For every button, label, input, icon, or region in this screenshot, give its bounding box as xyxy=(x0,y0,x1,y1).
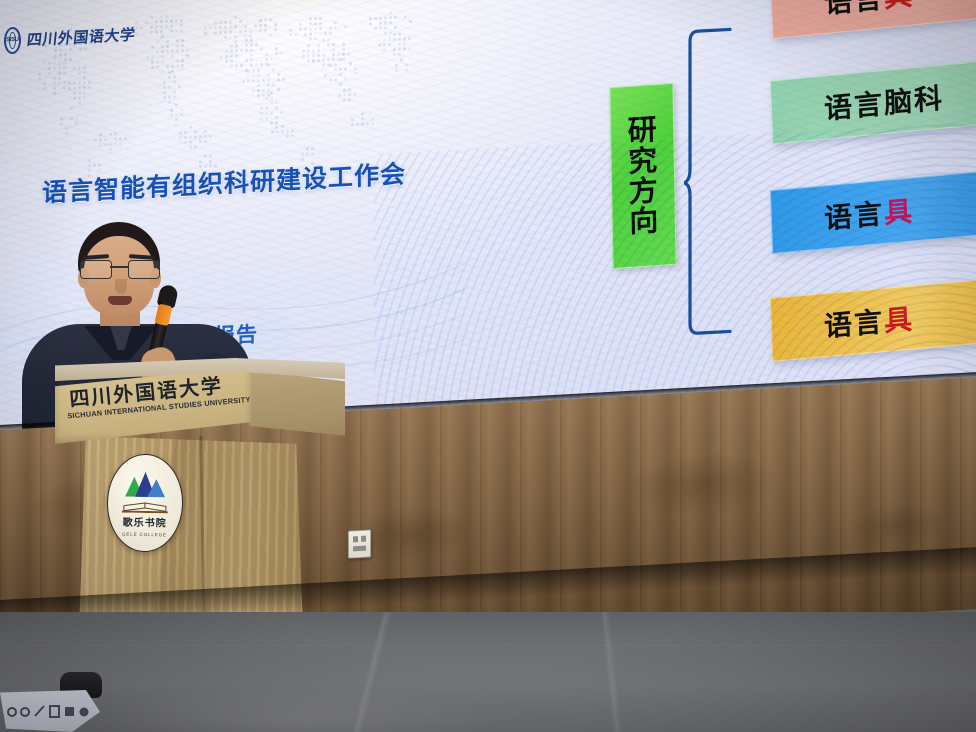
open-book-icon xyxy=(122,500,168,513)
speaker-nose xyxy=(115,279,127,294)
glasses-icon xyxy=(80,260,158,277)
paper-markings xyxy=(4,690,94,732)
podium-side-panel xyxy=(249,370,345,450)
mountain-icon xyxy=(121,469,169,498)
emblem-name-en: GELE COLLEGE xyxy=(122,532,167,538)
conference-photo-scene: SISU 四川外国语大学 语言智能有组织科研建设工作会 工作报告 ①论文所 xyxy=(0,0,976,732)
emblem-name-cn: 歌乐书院 xyxy=(123,514,167,530)
floor xyxy=(0,612,976,732)
wall-power-outlet[interactable] xyxy=(348,529,371,558)
speaker-mouth xyxy=(108,296,132,305)
